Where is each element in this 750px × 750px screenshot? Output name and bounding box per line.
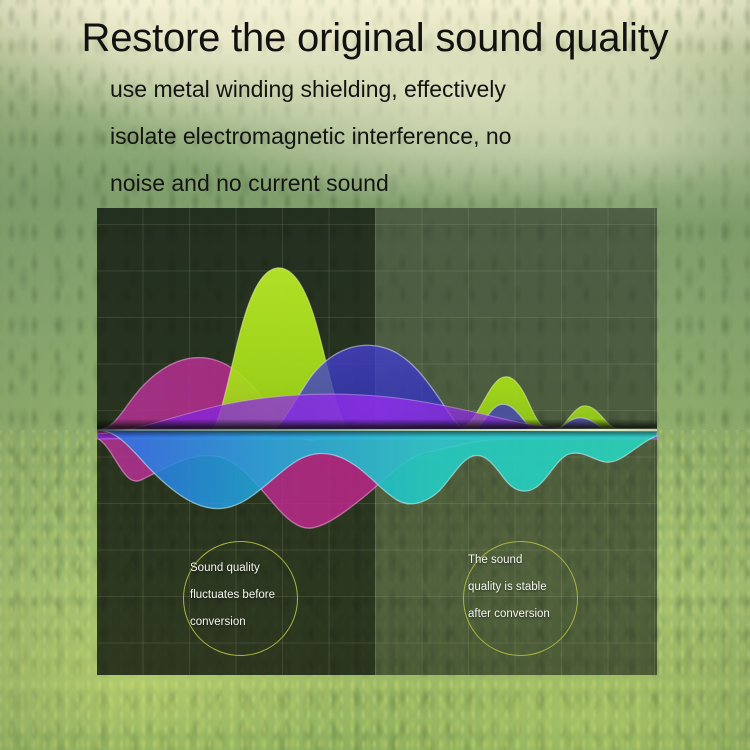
subtitle-line-3: noise and no current sound xyxy=(110,160,670,207)
annotation-before-line-1: Sound quality xyxy=(190,555,340,582)
subtitle-block: use metal winding shielding, effectively… xyxy=(110,66,670,207)
annotation-label-before: Sound quality fluctuates before conversi… xyxy=(190,555,340,636)
annotation-after-line-1: The sound xyxy=(468,547,618,574)
page-title: Restore the original sound quality xyxy=(0,16,750,60)
annotation-label-after: The sound quality is stable after conver… xyxy=(468,547,618,628)
subtitle-line-1: use metal winding shielding, effectively xyxy=(110,66,670,113)
annotation-after-line-3: after conversion xyxy=(468,601,618,628)
waveform-tail-line xyxy=(527,428,657,432)
subtitle-line-2: isolate electromagnetic interference, no xyxy=(110,113,670,160)
annotation-before-line-2: fluctuates before xyxy=(190,582,340,609)
annotation-after-line-2: quality is stable xyxy=(468,574,618,601)
poster-canvas: Restore the original sound quality use m… xyxy=(0,0,750,750)
annotation-before-line-3: conversion xyxy=(190,609,340,636)
waveform-lobe-cyan xyxy=(97,430,657,509)
